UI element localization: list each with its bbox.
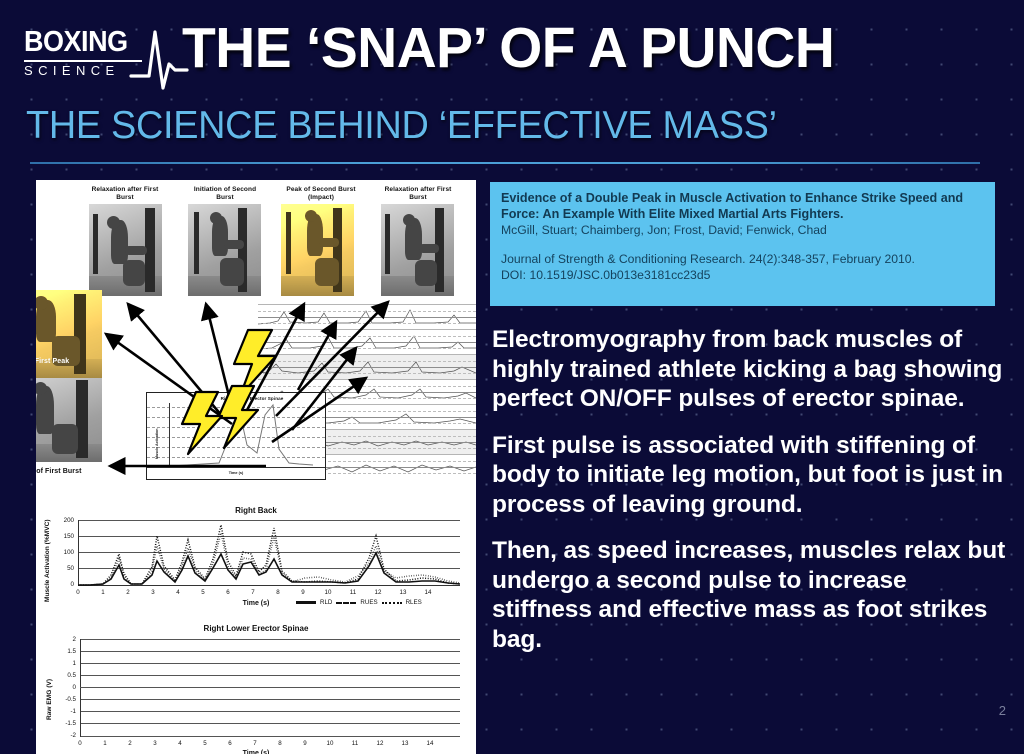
legend-swatch-rues <box>336 602 356 604</box>
figure-inset-label-initiation: Initiation of First Burst <box>36 468 144 476</box>
chart-2-xtick: 10 <box>322 740 338 747</box>
chart-2-xtick: 5 <box>197 740 213 747</box>
chart-1-xtick: 6 <box>220 589 236 596</box>
logo-divider <box>24 60 142 62</box>
chart-1-legend: RLD RUES RLES <box>296 599 422 606</box>
chart-1-xtick: 0 <box>70 589 86 596</box>
chart-1-title: Right Back <box>36 506 476 515</box>
chart-1-xtick: 2 <box>120 589 136 596</box>
chart-1-xtick: 10 <box>320 589 336 596</box>
figure-photo-3-highlighted <box>281 204 354 296</box>
inset-chart: Right Lower Erector Spinae Muscle Activa… <box>146 392 326 480</box>
slide-header: BOXING SCIENCE THE ‘SNAP’ OF A PUNCH THE… <box>0 0 1024 172</box>
chart-2-ytick: 0 <box>50 684 76 691</box>
legend-swatch-rld <box>296 601 316 604</box>
heartbeat-icon <box>129 26 189 92</box>
chart-2-xtick: 1 <box>97 740 113 747</box>
body-copy: Electromyography from back muscles of hi… <box>492 325 1012 671</box>
chart-2-xtick: 6 <box>222 740 238 747</box>
slide-canvas: BOXING SCIENCE THE ‘SNAP’ OF A PUNCH THE… <box>0 0 1024 754</box>
research-figure-panel: Relaxation after First Burst Initiation … <box>36 180 476 754</box>
chart-1-xtick: 14 <box>420 589 436 596</box>
figure-photo-4 <box>381 204 454 296</box>
body-paragraph-2: First pulse is associated with stiffenin… <box>492 431 1012 520</box>
page-subtitle: THE SCIENCE BEHIND ‘EFFECTIVE MASS’ <box>26 104 777 148</box>
figure-panel-label-3: Peak of Second Burst (Impact) <box>279 186 363 202</box>
legend-swatch-rles <box>382 602 402 604</box>
header-divider <box>30 162 980 164</box>
chart-1-xtick: 8 <box>270 589 286 596</box>
figure-panel-label-1: Relaxation after First Burst <box>86 186 164 202</box>
chart-1-xtick: 12 <box>370 589 386 596</box>
chart-2-xtick: 13 <box>397 740 413 747</box>
chart-2-ytick: 0.5 <box>50 672 76 679</box>
chart-2-xtick: 12 <box>372 740 388 747</box>
inset-chart-xlabel: Time (s) <box>147 471 325 475</box>
chart-2-ytick: -1 <box>50 708 76 715</box>
chart-2-xtick: 14 <box>422 740 438 747</box>
chart-1-ytick: 50 <box>50 565 74 572</box>
chart-1-xtick: 5 <box>195 589 211 596</box>
page-title: THE ‘SNAP’ OF A PUNCH <box>182 18 834 78</box>
chart-2-xtick: 11 <box>347 740 363 747</box>
chart-2-ytick: -0.5 <box>50 696 76 703</box>
legend-label-rles: RLES <box>406 599 422 606</box>
chart-2-ytick: 1.5 <box>50 648 76 655</box>
chart-1-xtick: 9 <box>295 589 311 596</box>
boxing-science-logo: BOXING SCIENCE <box>24 28 174 90</box>
figure-photo-1 <box>89 204 162 296</box>
chart-1-xtick: 4 <box>170 589 186 596</box>
citation-journal: Journal of Strength & Conditioning Resea… <box>501 251 984 267</box>
chart-2-title: Right Lower Erector Spinae <box>36 624 476 633</box>
figure-inset-label-first-peak: First Peak <box>36 358 102 366</box>
chart-1-xtick: 7 <box>245 589 261 596</box>
figure-panel-label-4: Relaxation after First Burst <box>379 186 457 202</box>
chart-1-xtick: 13 <box>395 589 411 596</box>
citation-authors: McGill, Stuart; Chaimberg, Jon; Frost, D… <box>501 222 984 238</box>
citation-title: Evidence of a Double Peak in Muscle Acti… <box>501 191 984 222</box>
chart-2-xtick: 8 <box>272 740 288 747</box>
citation-doi: DOI: 10.1519/JSC.0b013e3181cc23d5 <box>501 267 984 283</box>
chart-2-ytick: -1.5 <box>50 720 76 727</box>
chart-1-ylabel: Muscle Activation (%MVC) <box>44 519 51 602</box>
chart-1-xtick: 11 <box>345 589 361 596</box>
chart-1-xtick: 3 <box>145 589 161 596</box>
chart-2-xtick: 4 <box>172 740 188 747</box>
chart-2-ytick: 2 <box>50 636 76 643</box>
body-paragraph-1: Electromyography from back muscles of hi… <box>492 325 1012 414</box>
inset-chart-ylabel: Muscle Activation <box>155 429 159 459</box>
chart-2-xtick: 7 <box>247 740 263 747</box>
chart-1-ytick: 200 <box>50 517 74 524</box>
citation-box: Evidence of a Double Peak in Muscle Acti… <box>490 182 995 306</box>
chart-2-xlabel: Time (s) <box>36 750 476 754</box>
chart-2-ytick: -2 <box>50 732 76 739</box>
chart-2-xtick: 3 <box>147 740 163 747</box>
chart-2-xtick: 2 <box>122 740 138 747</box>
chart-1-xtick: 1 <box>95 589 111 596</box>
page-number: 2 <box>999 703 1006 718</box>
figure-photo-2 <box>188 204 261 296</box>
chart-1-ytick: 150 <box>50 533 74 540</box>
chart-1-ytick: 0 <box>50 581 74 588</box>
figure-panel-label-2: Initiation of Second Burst <box>186 186 264 202</box>
chart-2-xtick: 9 <box>297 740 313 747</box>
chart-2-xtick: 0 <box>72 740 88 747</box>
chart-right-back: Right Back Muscle Activation (%MVC) 200 … <box>36 504 476 616</box>
chart-2-ytick: 1 <box>50 660 76 667</box>
figure-photo-initiation <box>36 378 102 462</box>
legend-label-rld: RLD <box>320 599 332 606</box>
chart-1-ytick: 100 <box>50 549 74 556</box>
body-paragraph-3: Then, as speed increases, muscles relax … <box>492 536 1012 654</box>
chart-right-lower-erector-spinae: Right Lower Erector Spinae Raw EMG (V) 2… <box>36 620 476 754</box>
legend-label-rues: RUES <box>360 599 377 606</box>
